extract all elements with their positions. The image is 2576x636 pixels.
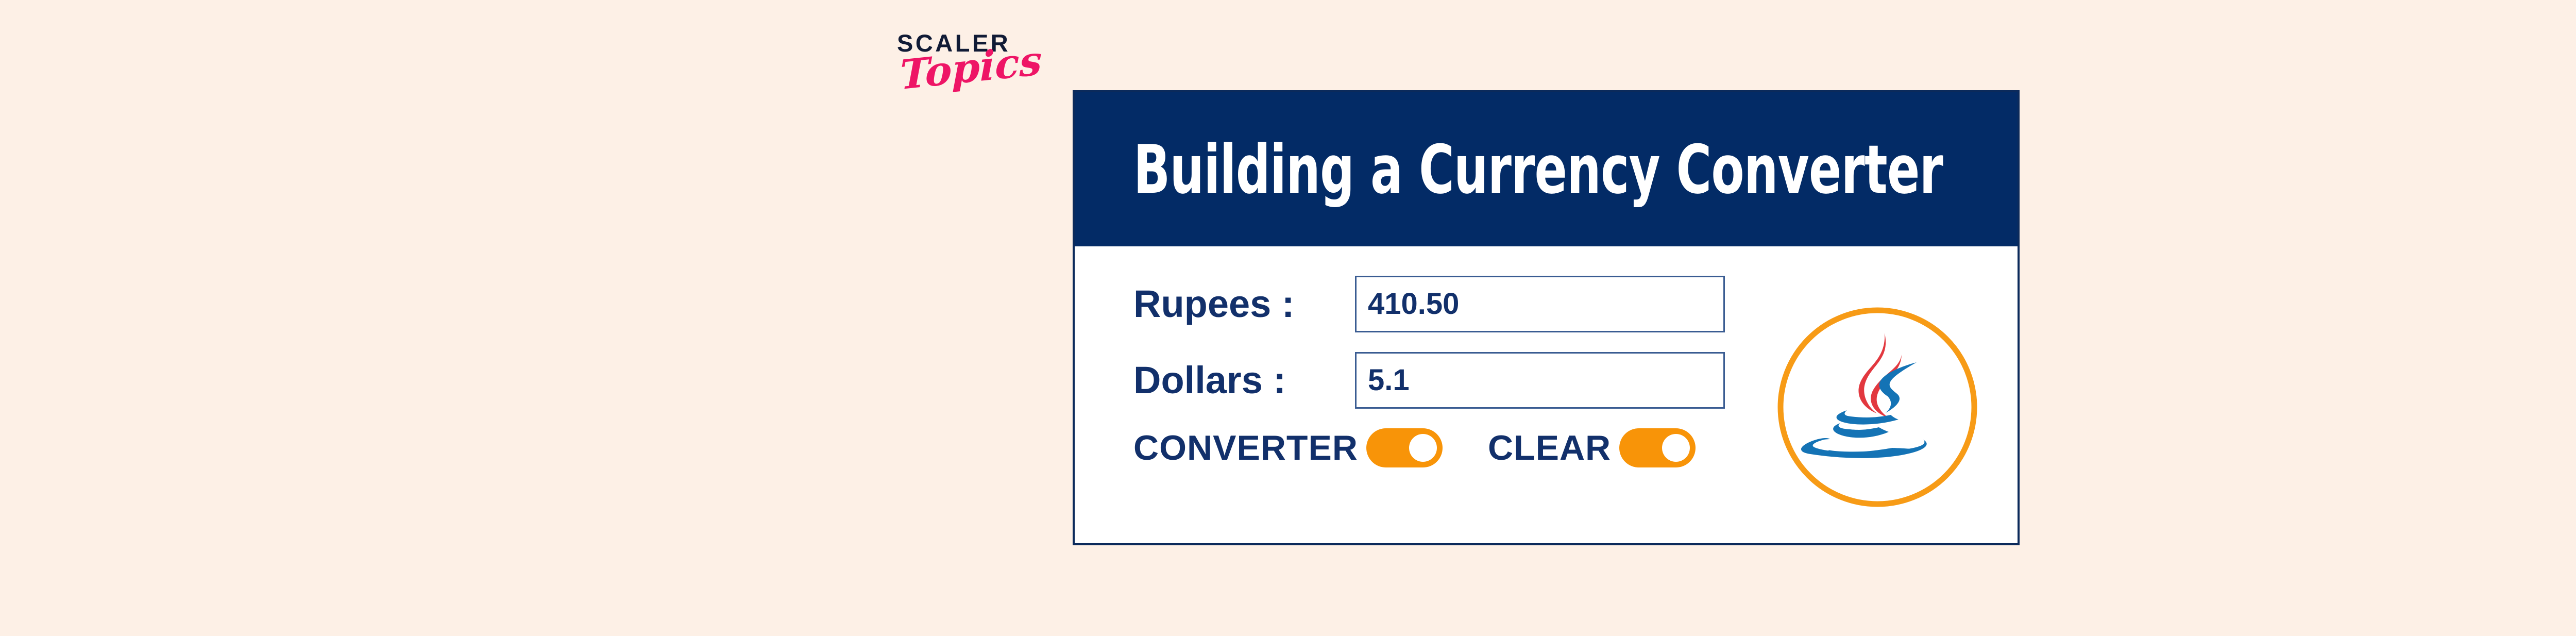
field-row-dollars: Dollars : 5.1	[1133, 352, 1725, 409]
card-body: Rupees : 410.50 Dollars : 5.1 CONVERTER …	[1075, 246, 2018, 543]
converter-toggle[interactable]	[1366, 428, 1443, 467]
page-title: Building a Currency Converter	[1133, 136, 1943, 203]
currency-converter-card: Building a Currency Converter Rupees : 4…	[1073, 90, 2020, 545]
clear-toggle-knob	[1662, 434, 1690, 462]
clear-toggle[interactable]	[1619, 428, 1696, 467]
clear-control-group: CLEAR	[1488, 428, 1696, 467]
converter-control-group: CONVERTER	[1133, 428, 1443, 467]
java-coffee-cup-logo-icon	[1774, 304, 1980, 510]
converter-toggle-knob	[1409, 434, 1437, 462]
page-canvas: SCALER Topics Building a Currency Conver…	[0, 0, 2576, 636]
scaler-topics-logo: SCALER Topics	[894, 31, 1048, 139]
card-header: Building a Currency Converter	[1075, 92, 2018, 246]
converter-label: CONVERTER	[1133, 430, 1358, 465]
dollars-label: Dollars :	[1133, 361, 1355, 399]
field-row-rupees: Rupees : 410.50	[1133, 276, 1725, 332]
rupees-input[interactable]: 410.50	[1355, 276, 1725, 332]
rupees-label: Rupees :	[1133, 285, 1355, 323]
dollars-input[interactable]: 5.1	[1355, 352, 1725, 409]
clear-label: CLEAR	[1488, 430, 1611, 465]
controls-row: CONVERTER CLEAR	[1133, 428, 1696, 467]
